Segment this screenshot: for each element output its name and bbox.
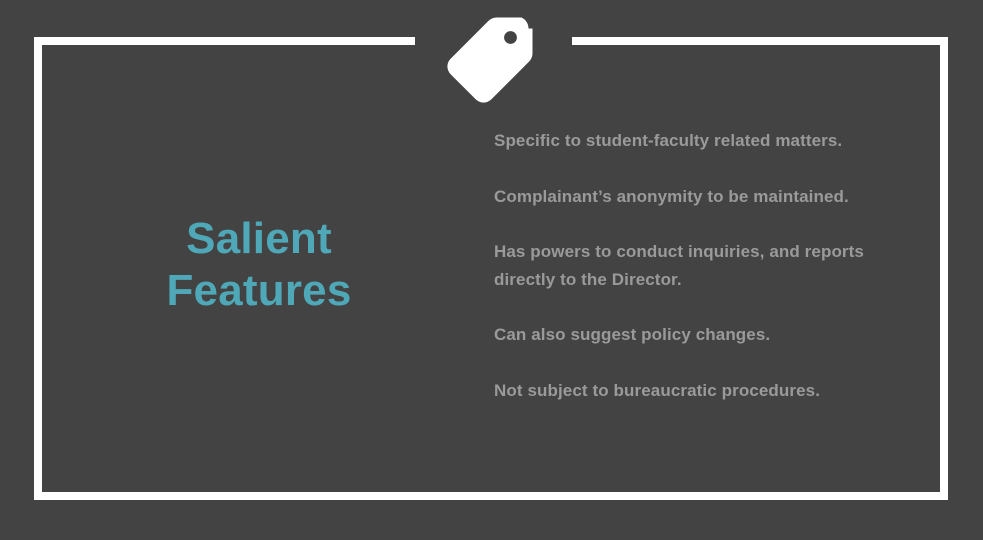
- list-item: Specific to student-faculty related matt…: [494, 127, 914, 155]
- page-title: Salient Features: [142, 213, 375, 317]
- title-column: Salient Features: [34, 45, 484, 485]
- title-line-1: Salient: [166, 213, 351, 265]
- list-item: Complainant’s anonymity to be maintained…: [494, 183, 914, 211]
- presentation-slide: Salient Features Specific to student-fac…: [0, 0, 983, 540]
- frame-edge-top-right: [572, 37, 948, 45]
- frame-edge-top-left: [34, 37, 415, 45]
- bullet-list: Specific to student-faculty related matt…: [484, 45, 948, 404]
- slide-content: Salient Features Specific to student-fac…: [34, 45, 948, 500]
- list-item: Can also suggest policy changes.: [494, 321, 914, 349]
- list-item: Has powers to conduct inquiries, and rep…: [494, 238, 914, 293]
- title-line-2: Features: [166, 265, 351, 317]
- list-item: Not subject to bureaucratic procedures.: [494, 377, 914, 405]
